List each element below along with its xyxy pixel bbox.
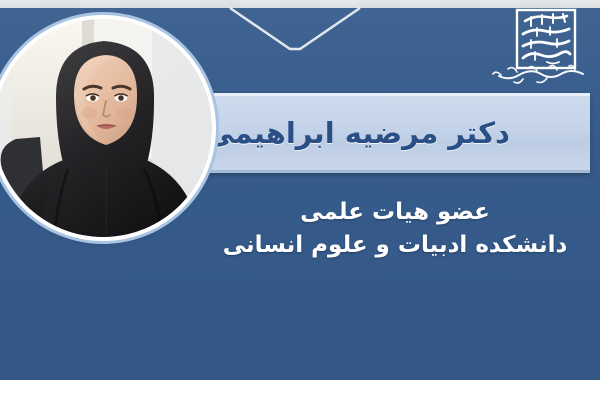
announcement-card: دکتر مرضیه ابراهیمی [0, 0, 600, 400]
avatar [0, 19, 212, 237]
subtitle-line-2: دانشکده ادبیات و علوم انسانی [200, 229, 590, 262]
subtitle-line-1: عضو هیات علمی [200, 196, 590, 229]
top-edge-strip [0, 0, 600, 8]
background-texture [0, 0, 600, 8]
position-subtitle: عضو هیات علمی دانشکده ادبیات و علوم انسا… [200, 196, 590, 261]
person-name: دکتر مرضیه ابراهیمی [150, 93, 565, 173]
university-logo [487, 8, 591, 92]
